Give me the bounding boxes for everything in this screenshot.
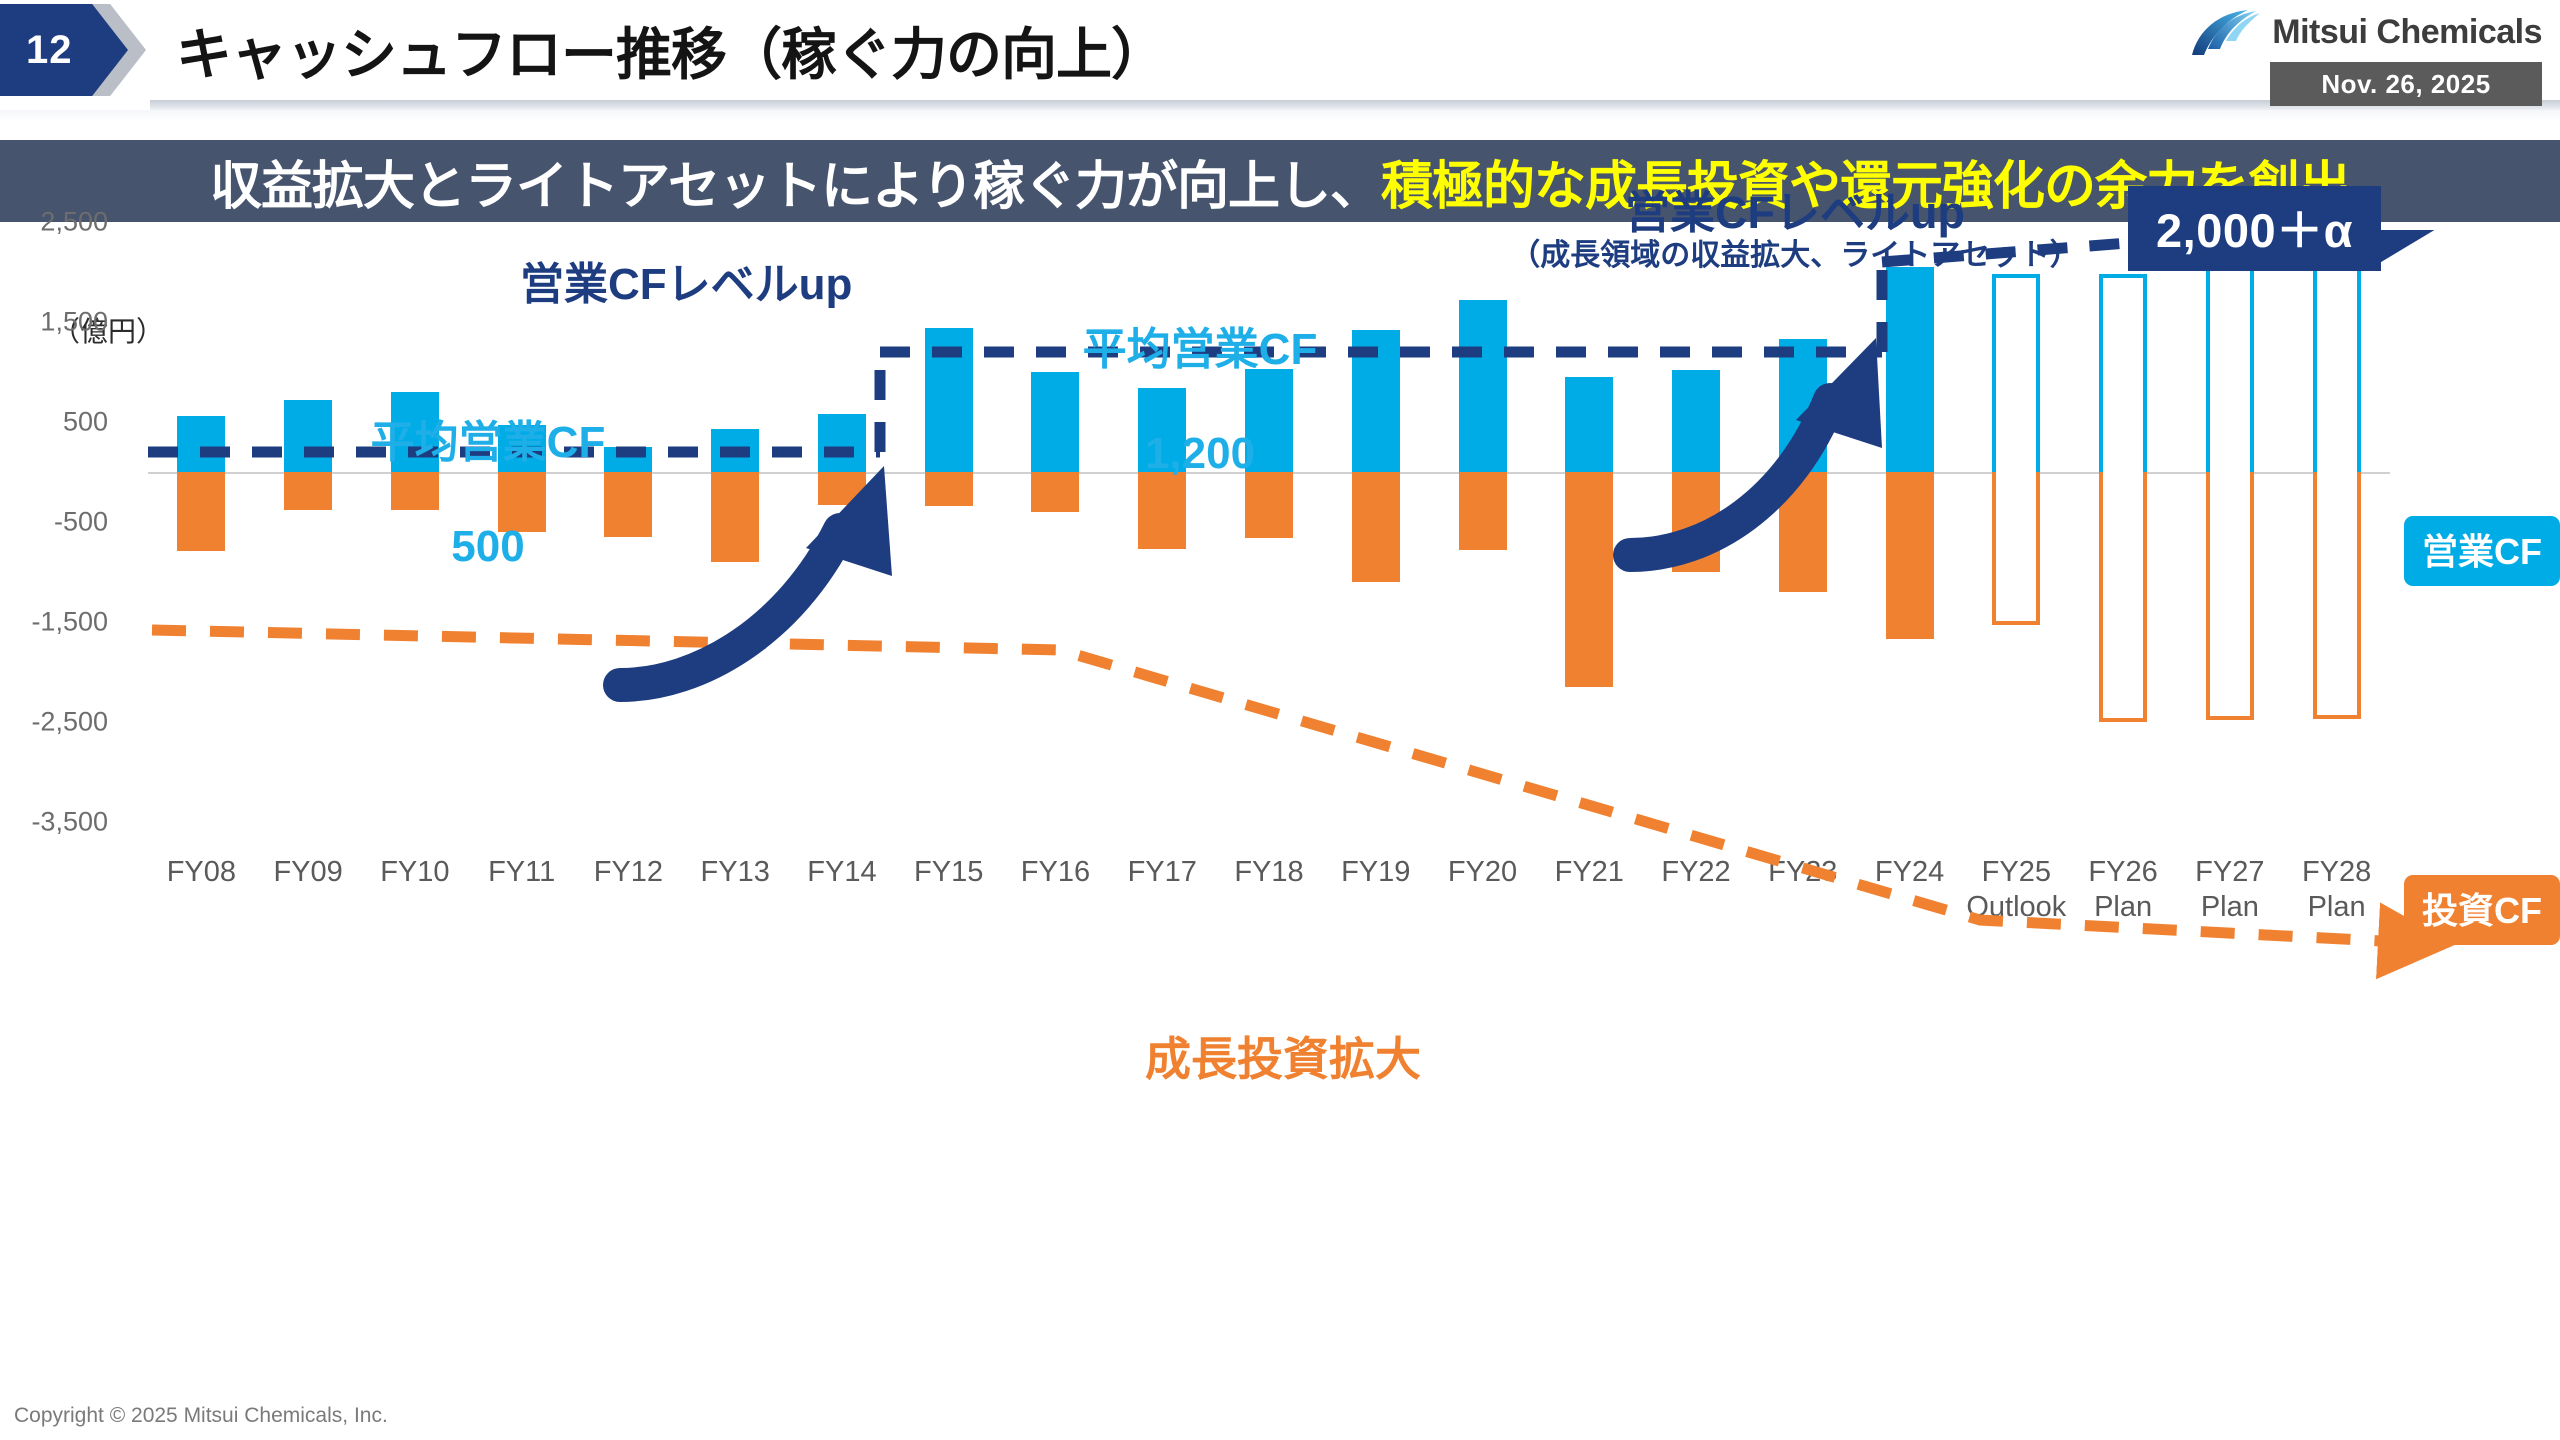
bar-investing-cf-FY08 xyxy=(177,472,225,551)
header-divider-top xyxy=(150,100,2560,110)
bar-operating-cf-FY14 xyxy=(818,414,866,472)
target-badge-2000-plus-alpha: 2,000＋α xyxy=(2128,186,2381,271)
bar-operating-cf-FY08 xyxy=(177,416,225,472)
bar-operating-cf-FY13 xyxy=(711,429,759,472)
x-label-FY28: FY28 Plan xyxy=(2267,855,2407,926)
annotation-avg-cf-500: 平均営業CF 500 xyxy=(348,365,628,625)
y-tick-2500: 2,500 xyxy=(40,207,108,238)
bar-investing-cf-FY15 xyxy=(925,472,973,506)
subtitle-white-part: 収益拡大とライトアセットにより稼ぐ力が向上し、 xyxy=(210,158,1381,216)
bar-operating-cf-FY09 xyxy=(284,400,332,472)
cashflow-chart: （億円） 2,500 1,500 500 -500 -1,500 -2,500 … xyxy=(0,230,2560,1400)
annotation-growth-investment: 成長投資拡大 xyxy=(1145,1023,1421,1089)
bar-operating-cf-FY27 xyxy=(2206,257,2254,472)
bar-investing-cf-FY24 xyxy=(1886,472,1934,639)
y-tick-1500: 1,500 xyxy=(40,307,108,338)
bar-investing-cf-FY27 xyxy=(2206,472,2254,720)
bar-operating-cf-FY24 xyxy=(1886,267,1934,472)
bar-operating-cf-FY22 xyxy=(1672,370,1720,472)
y-tick-m500: -500 xyxy=(54,507,108,538)
bar-operating-cf-FY15 xyxy=(925,328,973,472)
bar-operating-cf-FY28 xyxy=(2313,245,2361,472)
bar-operating-cf-FY20 xyxy=(1459,300,1507,472)
annotation-level-up-right-sub: （成長領域の収益拡大、ライトアセット） xyxy=(1500,230,2090,274)
bar-investing-cf-FY13 xyxy=(711,472,759,562)
page-number-chevron: 12 xyxy=(0,4,150,96)
bar-investing-cf-FY20 xyxy=(1459,472,1507,550)
legend-investing-cf[interactable]: 投資CF xyxy=(2404,875,2560,945)
page-number-label: 12 xyxy=(26,28,73,73)
annotation-level-up-left: 営業CFレベルup xyxy=(520,248,852,312)
y-axis: 2,500 1,500 500 -500 -1,500 -2,500 -3,50… xyxy=(0,230,108,1400)
y-tick-500: 500 xyxy=(63,407,108,438)
page-title: キャッシュフロー推移（稼ぐ力の向上） xyxy=(176,10,1166,91)
logo-wordmark: Mitsui Chemicals xyxy=(2272,13,2542,52)
bar-investing-cf-FY22 xyxy=(1672,472,1720,572)
bar-investing-cf-FY25 xyxy=(1992,472,2040,625)
bar-investing-cf-FY23 xyxy=(1779,472,1827,592)
avg-cf-1200-line1: 平均営業CF xyxy=(1055,324,1345,376)
avg-cf-1200-line2: 1,200 xyxy=(1055,428,1345,480)
bar-operating-cf-FY25 xyxy=(1992,274,2040,472)
annotation-avg-cf-1200: 平均営業CF 1,200 xyxy=(1055,272,1345,532)
subtitle-banner-text: 収益拡大とライトアセットにより稼ぐ力が向上し、積極的な成長投資や還元強化の余力を… xyxy=(210,144,2350,219)
bar-investing-cf-FY21 xyxy=(1565,472,1613,687)
legend-operating-cf[interactable]: 営業CF xyxy=(2404,516,2560,586)
y-tick-m2500: -2,500 xyxy=(31,707,108,738)
bar-operating-cf-FY26 xyxy=(2099,274,2147,472)
bar-investing-cf-FY26 xyxy=(2099,472,2147,722)
y-tick-m3500: -3,500 xyxy=(31,807,108,838)
avg-cf-500-line2: 500 xyxy=(348,521,628,573)
company-logo: Mitsui Chemicals xyxy=(2072,4,2542,60)
date-badge: Nov. 26, 2025 xyxy=(2270,62,2542,106)
mitsui-wave-icon xyxy=(2188,7,2262,57)
bar-investing-cf-FY09 xyxy=(284,472,332,510)
slide-header: 12 キャッシュフロー推移（稼ぐ力の向上） Mitsui Chemicals N… xyxy=(0,0,2560,140)
bar-operating-cf-FY21 xyxy=(1565,377,1613,472)
avg-cf-500-line1: 平均営業CF xyxy=(348,417,628,469)
bar-operating-cf-FY19 xyxy=(1352,330,1400,472)
bar-investing-cf-FY14 xyxy=(818,472,866,505)
header-divider-bottom xyxy=(0,110,2560,122)
bar-investing-cf-FY28 xyxy=(2313,472,2361,719)
y-tick-m1500: -1,500 xyxy=(31,607,108,638)
copyright-footer: Copyright © 2025 Mitsui Chemicals, Inc. xyxy=(14,1404,388,1428)
bar-operating-cf-FY23 xyxy=(1779,339,1827,472)
bar-investing-cf-FY19 xyxy=(1352,472,1400,582)
